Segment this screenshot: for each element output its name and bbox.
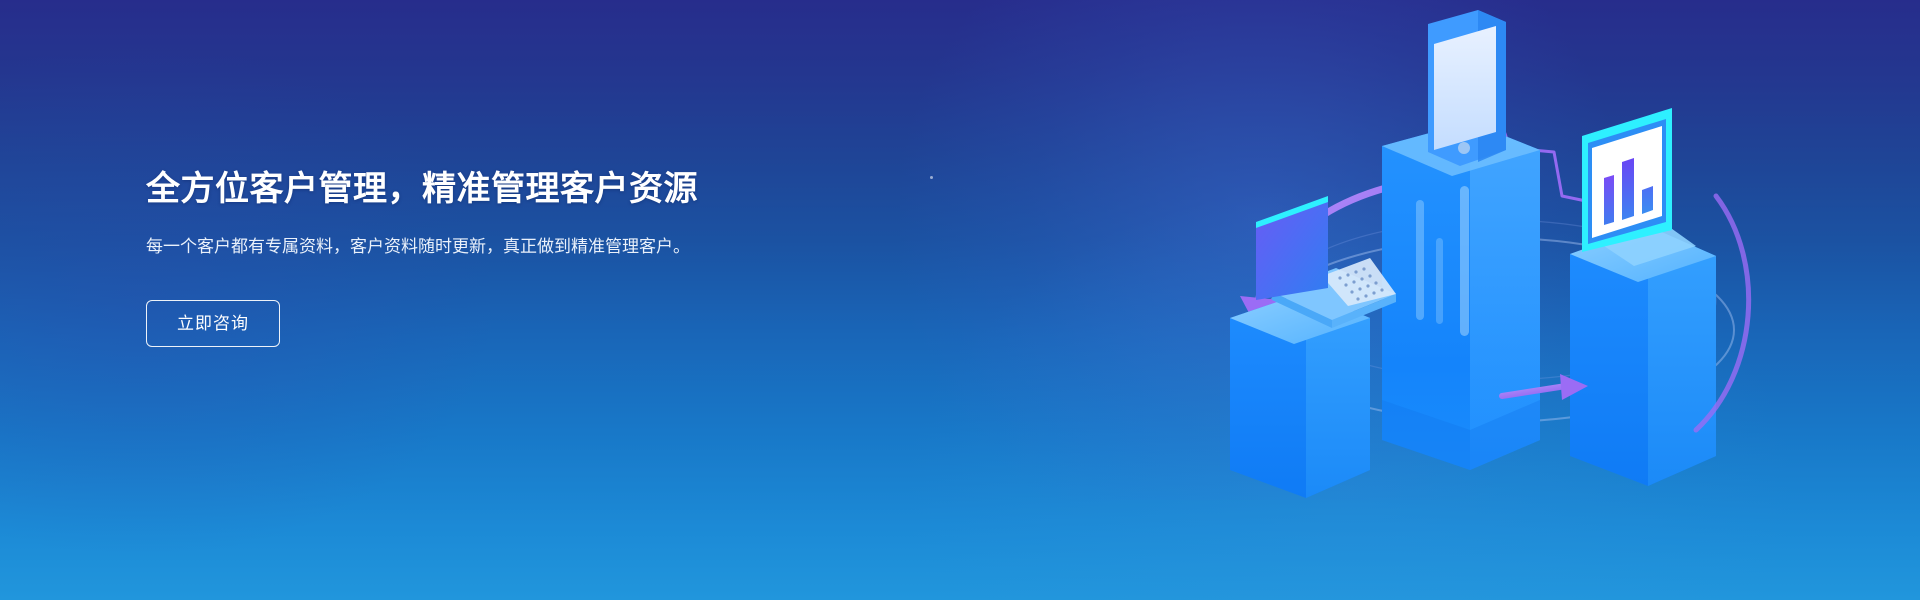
consult-now-button[interactable]: 立即咨询 xyxy=(146,300,280,347)
pillar-left xyxy=(1230,292,1370,498)
hero-banner: 全方位客户管理，精准管理客户资源 每一个客户都有专属资料，客户资料随时更新，真正… xyxy=(0,0,1920,600)
chart-bar-3 xyxy=(1642,186,1653,214)
pillar-center xyxy=(1382,122,1540,470)
pillar-right xyxy=(1570,226,1716,486)
chart-bar-1 xyxy=(1604,175,1614,225)
page-title: 全方位客户管理，精准管理客户资源 xyxy=(146,168,786,211)
hero-copy-block: 全方位客户管理，精准管理客户资源 每一个客户都有专属资料，客户资料随时更新，真正… xyxy=(146,168,786,347)
hero-subtitle: 每一个客户都有专属资料，客户资料随时更新，真正做到精准管理客户。 xyxy=(146,233,746,261)
monitor-bar-chart xyxy=(1582,108,1696,266)
hero-illustration xyxy=(1210,0,1770,600)
tablet-device xyxy=(1428,10,1506,166)
chart-bar-2 xyxy=(1622,158,1634,220)
sparkle-dot xyxy=(930,176,933,179)
